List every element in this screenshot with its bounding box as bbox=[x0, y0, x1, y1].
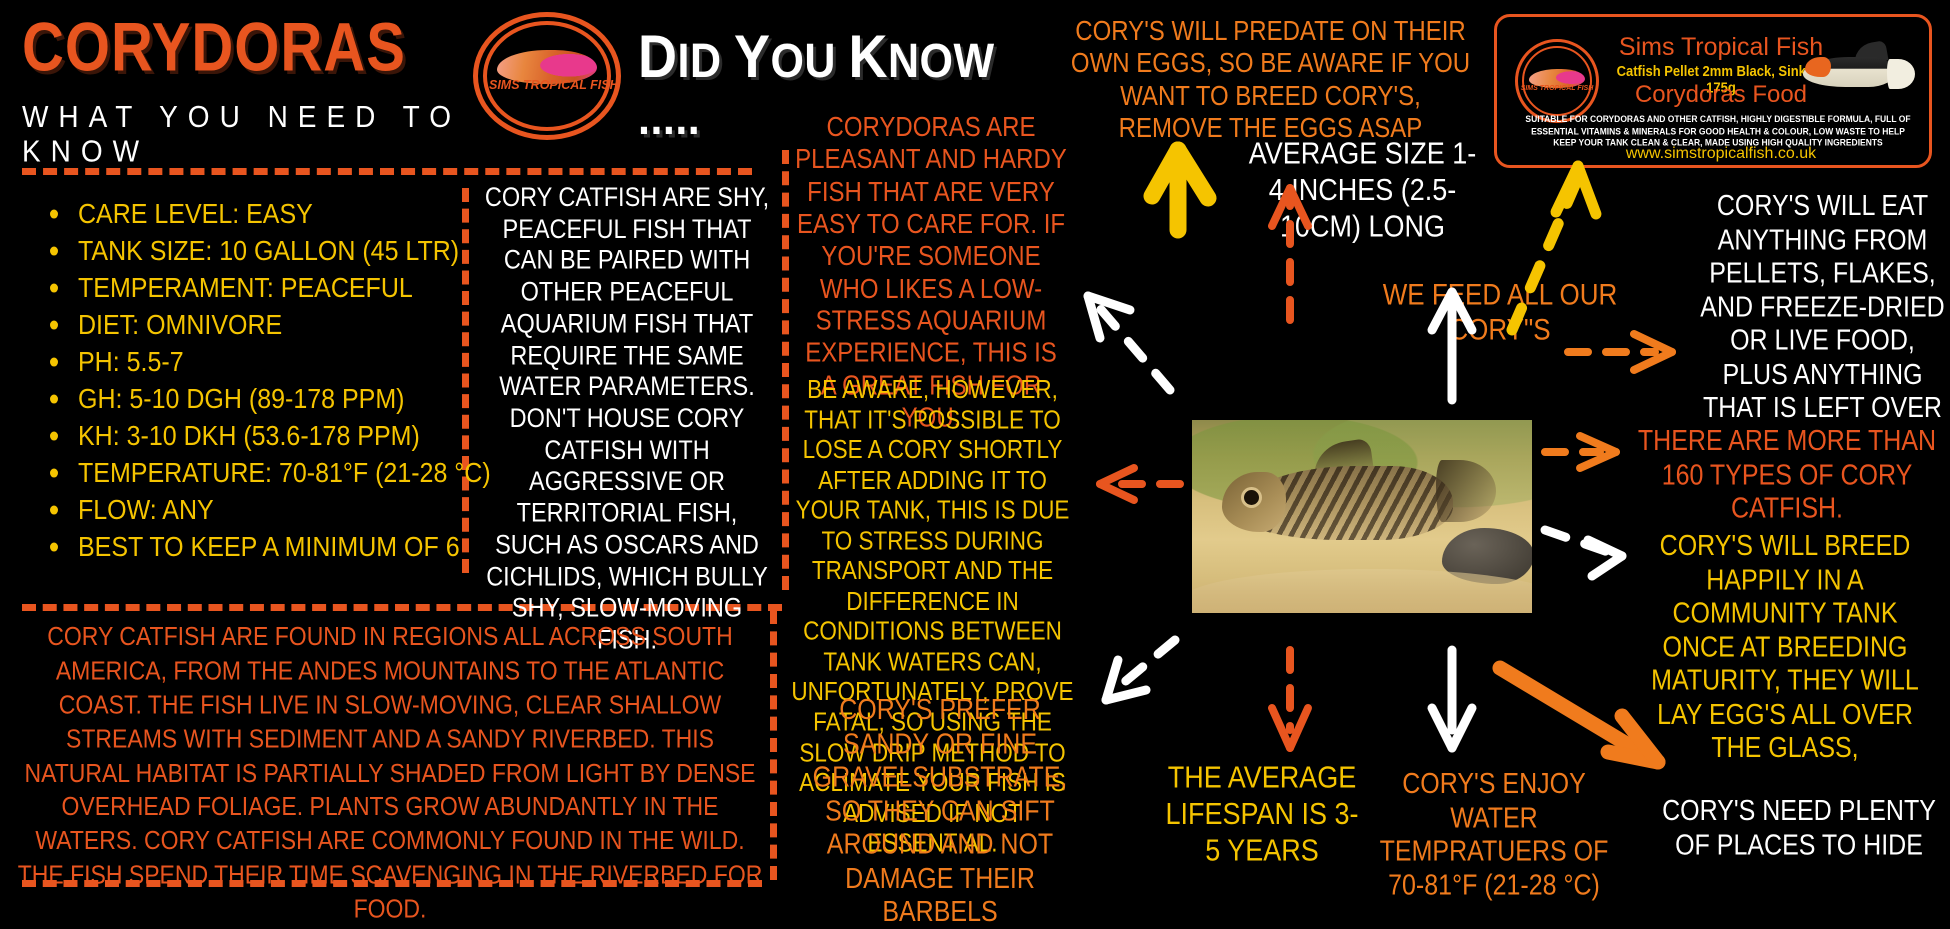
fish-eye bbox=[1244, 490, 1259, 505]
page-subtitle: WHAT YOU NEED TO KNOW bbox=[22, 100, 492, 169]
product-website-url[interactable]: www.simstropicalfish.co.uk bbox=[1601, 145, 1841, 163]
will-eat-text: CORY'S WILL EAT ANYTHING FROM PELLETS, F… bbox=[1700, 190, 1945, 425]
list-item: GH: 5-10 DGH (89-178 PPM) bbox=[40, 380, 460, 419]
arrow-orange-dashed-down-head bbox=[1272, 708, 1308, 748]
more-than-160-text: THERE ARE MORE THAN 160 TYPES OF CORY CA… bbox=[1632, 425, 1942, 526]
list-item: KH: 3-10 DKH (53.6-178 PPM) bbox=[40, 417, 460, 456]
arrow-orange-dashed-left-head bbox=[1100, 468, 1134, 500]
product-logo-label: SIMS TROPICAL FISH bbox=[1519, 85, 1595, 92]
logo-label: SIMS TROPICAL FISH bbox=[489, 78, 605, 92]
corydoras-photo bbox=[1192, 420, 1532, 613]
list-item: FLOW: ANY bbox=[40, 491, 460, 530]
tail-fin bbox=[1436, 460, 1496, 522]
arrow-yellow-up-thick bbox=[1152, 150, 1208, 230]
care-spec-list: CARE LEVEL: EASY TANK SIZE: 10 GALLON (4… bbox=[40, 195, 460, 565]
arrow-white-dashed-downleft-head bbox=[1106, 660, 1146, 700]
habitat-text: CORY CATFISH ARE FOUND IN REGIONS ALL AC… bbox=[14, 620, 766, 927]
product-label[interactable]: SIMS TROPICAL FISH Sims Tropical Fish Ca… bbox=[1494, 14, 1932, 168]
brand-logo: SIMS TROPICAL FISH bbox=[473, 12, 621, 140]
corydoras-illustration bbox=[1797, 43, 1915, 105]
divider-column-right bbox=[782, 150, 789, 590]
arrow-white-dashed-downright-head bbox=[1588, 540, 1622, 576]
list-item: PH: 5.5-7 bbox=[40, 343, 460, 382]
list-item: BEST TO KEEP A MINIMUM OF 6 bbox=[40, 528, 460, 567]
lifespan-text: THE AVERAGE LIFESPAN IS 3-5 YEARS bbox=[1162, 760, 1362, 869]
arrow-white-dashed-downleft bbox=[1115, 640, 1175, 690]
arrow-white-dashed-downright bbox=[1545, 530, 1608, 552]
average-size-text: AVERAGE SIZE 1-4 INCHES (2.5-10CM) LONG bbox=[1245, 136, 1480, 245]
illustration-tail bbox=[1887, 59, 1915, 89]
substrate-text: CORY'S PREFER SANDY OR FINE GRAVELSUBSTR… bbox=[800, 694, 1080, 929]
list-item: TEMPERAMENT: PEACEFUL bbox=[40, 269, 460, 308]
title-block: CORYDORAS WHAT YOU NEED TO KNOW bbox=[22, 14, 492, 164]
we-feed-text: WE FEED ALL OUR CORY"S bbox=[1340, 277, 1660, 347]
list-item: TANK SIZE: 10 GALLON (45 LTR) bbox=[40, 232, 460, 271]
places-to-hide-text: CORY'S NEED PLENTY OF PLACES TO HIDE bbox=[1660, 795, 1938, 862]
illustration-head bbox=[1805, 57, 1831, 77]
arrow-white-dashed-upleft bbox=[1098, 306, 1170, 390]
arrow-yellow-dashed-up-head bbox=[1556, 166, 1596, 214]
divider-top-left bbox=[22, 168, 752, 175]
product-logo: SIMS TROPICAL FISH bbox=[1515, 39, 1599, 123]
shy-peaceful-text: CORY CATFISH ARE SHY, PEACEFUL FISH THAT… bbox=[482, 182, 772, 656]
divider-vertical-mid bbox=[462, 188, 469, 573]
arrow-orange-thick-downright bbox=[1500, 668, 1658, 762]
water-temp-text: CORY'S ENJOY WATER TEMPRATUERS OF 70-81°… bbox=[1370, 768, 1618, 903]
predate-eggs-text: CORY'S WILL PREDATE ON THEIR OWN EGGS, S… bbox=[1068, 16, 1473, 145]
page-title: CORYDORAS bbox=[22, 14, 492, 82]
arrow-orange-dashed-right-mid-head bbox=[1580, 436, 1616, 468]
list-item: CARE LEVEL: EASY bbox=[40, 195, 460, 234]
sand-foreground bbox=[1192, 569, 1532, 613]
list-item: DIET: OMNIVORE bbox=[40, 306, 460, 345]
arrow-white-down bbox=[1432, 650, 1472, 748]
will-breed-text: CORY'S WILL BREED HAPPILY IN A COMMUNITY… bbox=[1650, 530, 1920, 765]
product-description: SUITABLE FOR CORYDORAS AND OTHER CATFISH… bbox=[1523, 113, 1913, 149]
arrow-white-dashed-upleft-head bbox=[1088, 296, 1130, 338]
list-item: TEMPERATURE: 70-81°F (21-28 °C) bbox=[40, 454, 460, 493]
